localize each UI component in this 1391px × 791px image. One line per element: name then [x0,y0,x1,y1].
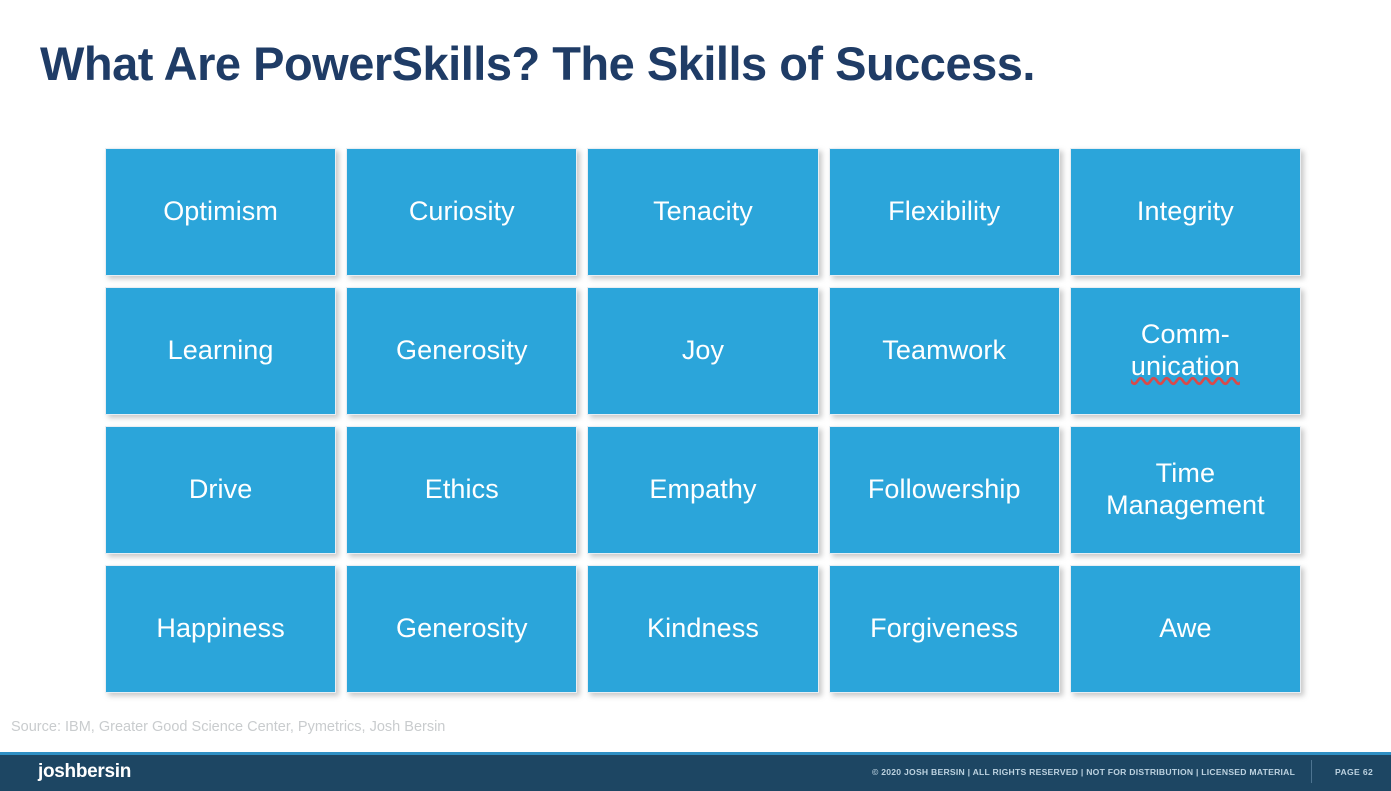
skill-tile-line: Integrity [1137,196,1234,226]
skill-tile-label: Learning [168,335,274,367]
skill-tile-label: Curiosity [409,196,515,228]
footer-accent-stripe [0,752,1391,755]
skill-tile-label: Forgiveness [870,613,1018,645]
skill-tile-line: Optimism [163,196,278,226]
skill-tile[interactable]: Curiosity [346,148,577,276]
skill-tile-label: Teamwork [882,335,1006,367]
skill-tile-label: Generosity [396,613,528,645]
spellcheck-underlined-text: unication [1131,351,1240,381]
skill-tile[interactable]: Optimism [105,148,336,276]
skill-tile[interactable]: Kindness [587,565,818,693]
skill-tile[interactable]: Joy [587,287,818,415]
skill-tile-label: Optimism [163,196,278,228]
slide-footer: joshbersin © 2020 JOSH BERSIN | ALL RIGH… [0,752,1391,791]
skill-tile[interactable]: Empathy [587,426,818,554]
skill-tile-label: Awe [1159,613,1211,645]
source-attribution: Source: IBM, Greater Good Science Center… [11,719,445,735]
skill-tile-label: Happiness [156,613,284,645]
skill-tile-line: Generosity [396,613,528,643]
skill-tile-line: Joy [682,335,724,365]
skill-tile-label: Flexibility [888,196,1000,228]
skill-tile[interactable]: Flexibility [829,148,1060,276]
skill-tile-label: Comm-unication [1131,319,1240,383]
skill-tile-label: Generosity [396,335,528,367]
skill-tile-line: Learning [168,335,274,365]
skill-tile-line: Comm- [1141,319,1230,349]
skill-tile[interactable]: Generosity [346,565,577,693]
skill-tile-line: Flexibility [888,196,1000,226]
skill-tile[interactable]: Awe [1070,565,1301,693]
joshbersin-logo: joshbersin [38,761,131,783]
skill-tile-label: Drive [189,474,253,506]
skill-tile-line: Teamwork [882,335,1006,365]
skill-tile[interactable]: Happiness [105,565,336,693]
skill-tile-line: Ethics [425,474,499,504]
skill-tile[interactable]: Ethics [346,426,577,554]
skill-tile[interactable]: Generosity [346,287,577,415]
page-title: What Are PowerSkills? The Skills of Succ… [40,36,1035,91]
skill-tile-line: Forgiveness [870,613,1018,643]
skill-tile-line: Curiosity [409,196,515,226]
skill-tile-label: Joy [682,335,724,367]
copyright-notice: © 2020 JOSH BERSIN | ALL RIGHTS RESERVED… [872,767,1295,777]
skill-tile[interactable]: Forgiveness [829,565,1060,693]
skill-tile-label: Tenacity [653,196,753,228]
skill-tile-line: Drive [189,474,253,504]
footer-divider [1311,760,1312,783]
skill-tile[interactable]: Learning [105,287,336,415]
skill-tile-line: Tenacity [653,196,753,226]
skill-tile-label: Empathy [649,474,756,506]
skill-tile-label: Followership [868,474,1021,506]
page-number: PAGE 62 [1335,767,1373,777]
skill-tile-label: TimeManagement [1106,458,1265,522]
skill-tile-line: Happiness [156,613,284,643]
skill-tile-label: Ethics [425,474,499,506]
skill-tile-line: Empathy [649,474,756,504]
skill-tile[interactable]: Teamwork [829,287,1060,415]
skill-tile[interactable]: Drive [105,426,336,554]
skill-tile-line: Generosity [396,335,528,365]
skill-tile-line: Followership [868,474,1021,504]
skill-tile-line: Time [1156,458,1215,488]
skill-tile[interactable]: Comm-unication [1070,287,1301,415]
skill-tile-label: Kindness [647,613,759,645]
skill-tile-line: Awe [1159,613,1211,643]
skill-tile[interactable]: Integrity [1070,148,1301,276]
presentation-slide: What Are PowerSkills? The Skills of Succ… [0,0,1391,791]
skill-tile[interactable]: Followership [829,426,1060,554]
skill-tile-line: Management [1106,490,1265,520]
skills-grid: OptimismCuriosityTenacityFlexibilityInte… [105,148,1301,693]
skill-tile[interactable]: TimeManagement [1070,426,1301,554]
skill-tile-line: Kindness [647,613,759,643]
skill-tile[interactable]: Tenacity [587,148,818,276]
skill-tile-label: Integrity [1137,196,1234,228]
